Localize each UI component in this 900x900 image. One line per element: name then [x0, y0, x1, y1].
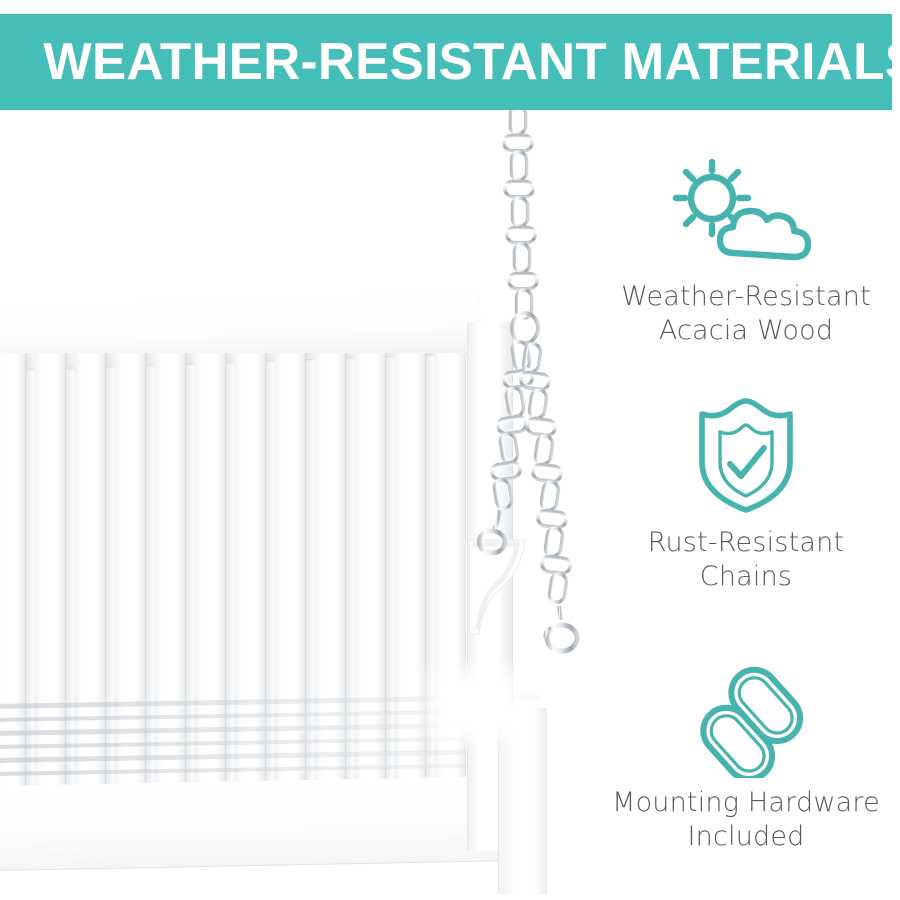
feature-list: Weather-Resistant Acacia Wood Rust-Resis…: [592, 150, 900, 900]
shield-check-icon: [592, 396, 900, 518]
feature-item-mounting-hardware-included: Mounting Hardware Included: [592, 656, 900, 854]
chain-links-icon: [592, 656, 900, 778]
product-photo: [0, 110, 620, 900]
sun-cloud-icon: [592, 150, 900, 272]
chain-right-snap-hook: [545, 606, 577, 651]
product-feature-image: WEATHER-RESISTANT MATERIALS: [0, 0, 900, 900]
chain-left-snap-hook: [479, 510, 505, 553]
feature-label: Mounting Hardware Included: [592, 786, 900, 854]
feature-label: Weather-Resistant Acacia Wood: [592, 280, 900, 348]
banner-title: WEATHER-RESISTANT MATERIALS: [0, 36, 900, 88]
chain-upper-strand: [504, 110, 537, 318]
header-banner: WEATHER-RESISTANT MATERIALS: [0, 14, 892, 110]
feature-item-rust-resistant-chains: Rust-Resistant Chains: [592, 396, 900, 594]
feature-label: Rust-Resistant Chains: [592, 526, 900, 594]
feature-item-weather-resistant-acacia-wood: Weather-Resistant Acacia Wood: [592, 150, 900, 348]
swing-hanging-chain: [0, 110, 620, 900]
